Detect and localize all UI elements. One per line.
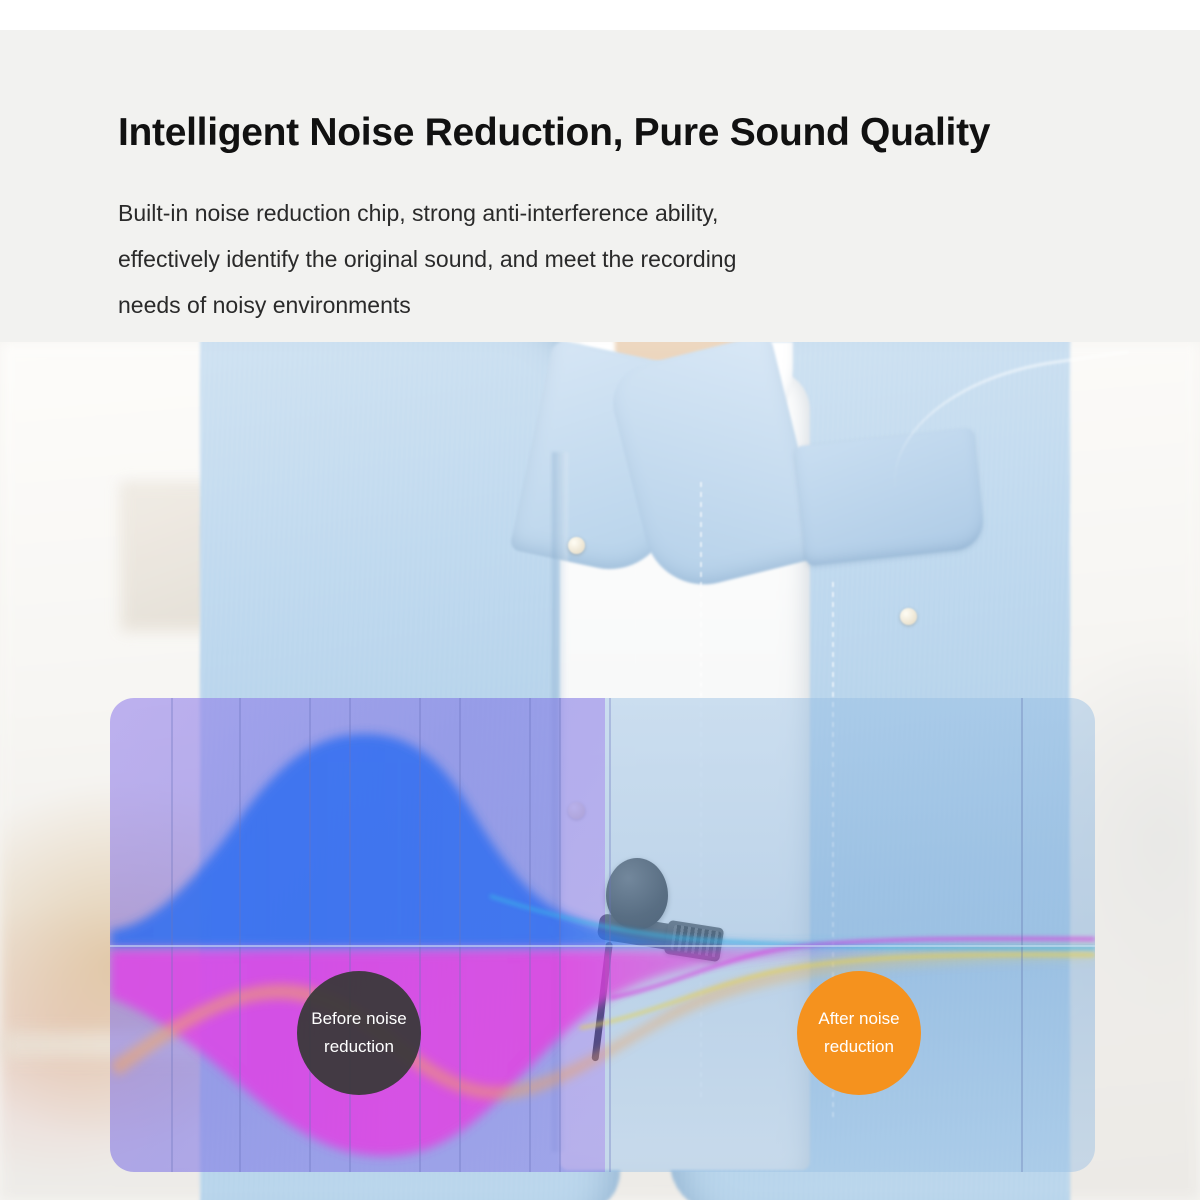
pocket-button (900, 608, 917, 625)
product-photo: Before noise reduction After noise reduc… (0, 342, 1200, 1200)
badge-after-noise-reduction: After noise reduction (797, 971, 921, 1095)
shirt-button (568, 537, 585, 554)
top-white-strip (0, 0, 1200, 30)
product-feature-panel: Intelligent Noise Reduction, Pure Sound … (0, 0, 1200, 1200)
header-section: Intelligent Noise Reduction, Pure Sound … (0, 30, 1200, 342)
description-line-2: effectively identify the original sound,… (118, 236, 948, 282)
waveform-comparison-panel (110, 698, 1095, 1172)
badge-after-line-2: reduction (824, 1033, 894, 1061)
badge-after-line-1: After noise (818, 1005, 899, 1033)
waveform-gridlines (110, 698, 1095, 1172)
header-description: Built-in noise reduction chip, strong an… (118, 190, 948, 328)
description-line-3: needs of noisy environments (118, 282, 948, 328)
badge-before-noise-reduction: Before noise reduction (297, 971, 421, 1095)
description-line-1: Built-in noise reduction chip, strong an… (118, 190, 948, 236)
badge-before-line-1: Before noise (311, 1005, 406, 1033)
page-title: Intelligent Noise Reduction, Pure Sound … (118, 112, 1138, 155)
badge-before-line-2: reduction (324, 1033, 394, 1061)
